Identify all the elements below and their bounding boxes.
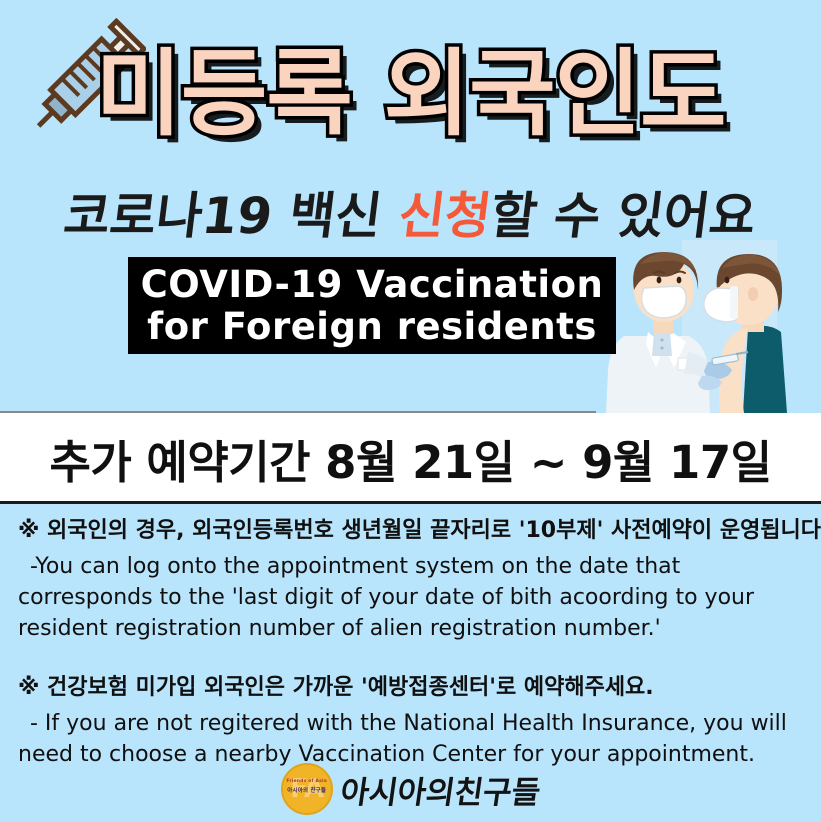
logo-micro-top: Friends of Asia <box>283 779 331 784</box>
notice1-english-line1: -You can log onto the appointment system… <box>18 551 808 582</box>
reservation-period-band: 추가 예약기간 8월 21일 ~ 9월 17일 <box>0 414 821 503</box>
notice2-english-line1: - If you are not regitered with the Nati… <box>18 708 808 739</box>
poster-main-title: 미등록 외국인도 <box>0 48 821 142</box>
notice1-english-block: -You can log onto the appointment system… <box>18 551 808 645</box>
fa-logo-icon: FA Friends of Asia 아시아의 친구들 <box>281 763 333 815</box>
notice-paragraph-2: ※ 건강보험 미가입 외국인은 가까운 '예방접종센터'로 예약해주세요. - … <box>18 669 808 770</box>
notice1-english-line2: corresponds to the 'last digit of your d… <box>18 582 808 613</box>
notice1-english-line3: resident registration number of alien re… <box>18 613 808 644</box>
notice-paragraph-1: ※ 외국인의 경우, 외국인등록번호 생년월일 끝자리로 '10부제' 사전예약… <box>18 512 808 645</box>
subtitle-pre-text: 코로나19 백신 <box>61 187 403 245</box>
notice2-korean-line: ※ 건강보험 미가입 외국인은 가까운 '예방접종센터'로 예약해주세요. <box>18 669 808 701</box>
logo-micro-bottom: 아시아의 친구들 <box>283 786 331 794</box>
subtitle-highlight-text: 신청 <box>395 187 494 245</box>
notice1-korean-line: ※ 외국인의 경우, 외국인등록번호 생년월일 끝자리로 '10부제' 사전예약… <box>18 512 808 544</box>
poster-body: ※ 외국인의 경우, 외국인등록번호 생년월일 끝자리로 '10부제' 사전예약… <box>0 504 821 822</box>
organization-wordmark: 아시아의친구들 <box>338 767 544 812</box>
english-title-line1: COVID-19 Vaccination <box>141 264 604 305</box>
reservation-period-text: 추가 예약기간 8월 21일 ~ 9월 17일 <box>49 426 771 491</box>
doctor-vaccinating-patient-illustration <box>596 240 821 413</box>
subtitle-post-text: 할 수 있어요 <box>487 187 759 245</box>
poster-root: 미등록 외국인도 코로나19 백신 신청할 수 있어요 <box>0 0 821 822</box>
organization-logo: FA Friends of Asia 아시아의 친구들 아시아의친구들 <box>0 758 821 820</box>
english-title-line2: for Foreign residents <box>147 306 597 347</box>
english-title-banner: COVID-19 Vaccination for Foreign residen… <box>128 257 616 354</box>
poster-header: 미등록 외국인도 코로나19 백신 신청할 수 있어요 <box>0 0 821 413</box>
poster-subtitle: 코로나19 백신 신청할 수 있어요 <box>0 176 821 248</box>
